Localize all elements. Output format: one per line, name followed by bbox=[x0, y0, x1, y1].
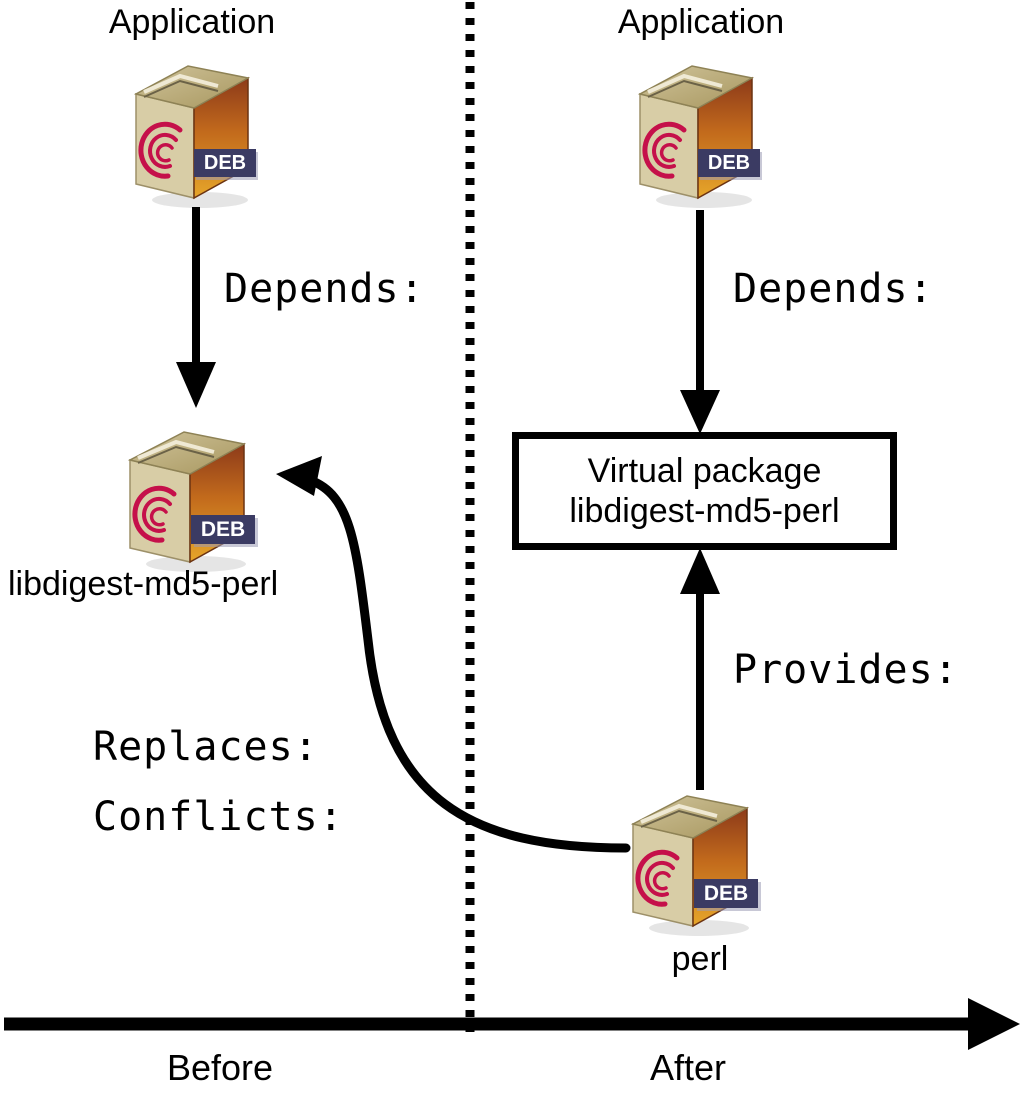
deb-package-icon-perl[interactable]: DEB bbox=[613, 782, 783, 942]
timeline-axis bbox=[4, 998, 1020, 1050]
virtual-package-line2: libdigest-md5-perl bbox=[569, 491, 839, 531]
svg-text:DEB: DEB bbox=[704, 882, 748, 905]
deb-badge: DEB bbox=[191, 515, 258, 547]
virtual-package-box[interactable]: Virtual package libdigest-md5-perl bbox=[512, 432, 897, 550]
svg-text:DEB: DEB bbox=[708, 152, 750, 174]
node-label-perl: perl bbox=[600, 940, 800, 978]
arrow-provides bbox=[680, 548, 720, 790]
edge-label-conflicts: Conflicts: bbox=[93, 795, 344, 839]
arrow-depends-right bbox=[680, 210, 720, 434]
deb-badge: DEB bbox=[694, 879, 761, 911]
svg-text:DEB: DEB bbox=[204, 152, 246, 174]
deb-badge: DEB bbox=[194, 149, 258, 180]
page-title-left: Application bbox=[62, 3, 322, 41]
edge-label-provides: Provides: bbox=[733, 648, 959, 692]
deb-package-icon-app-left[interactable]: DEB bbox=[118, 52, 278, 212]
arrow-depends-left bbox=[176, 207, 216, 408]
diagram-canvas: libdigest-md5-perl (Depends:) --> Virtua… bbox=[0, 0, 1024, 1094]
node-label-libdigest-md5-perl: libdigest-md5-perl bbox=[8, 565, 388, 603]
virtual-package-line1: Virtual package bbox=[588, 451, 822, 491]
deb-package-icon-app-right[interactable]: DEB bbox=[622, 52, 782, 212]
deb-package-icon-libdigest[interactable]: DEB bbox=[110, 418, 280, 578]
edge-label-depends-right: Depends: bbox=[733, 267, 934, 311]
edge-label-replaces: Replaces: bbox=[93, 725, 319, 769]
svg-text:DEB: DEB bbox=[201, 518, 245, 541]
deb-badge: DEB bbox=[698, 149, 762, 180]
edge-label-depends-left: Depends: bbox=[224, 267, 425, 311]
timeline-label-after: After bbox=[588, 1048, 788, 1088]
timeline-label-before: Before bbox=[120, 1048, 320, 1088]
page-title-right: Application bbox=[571, 3, 831, 41]
